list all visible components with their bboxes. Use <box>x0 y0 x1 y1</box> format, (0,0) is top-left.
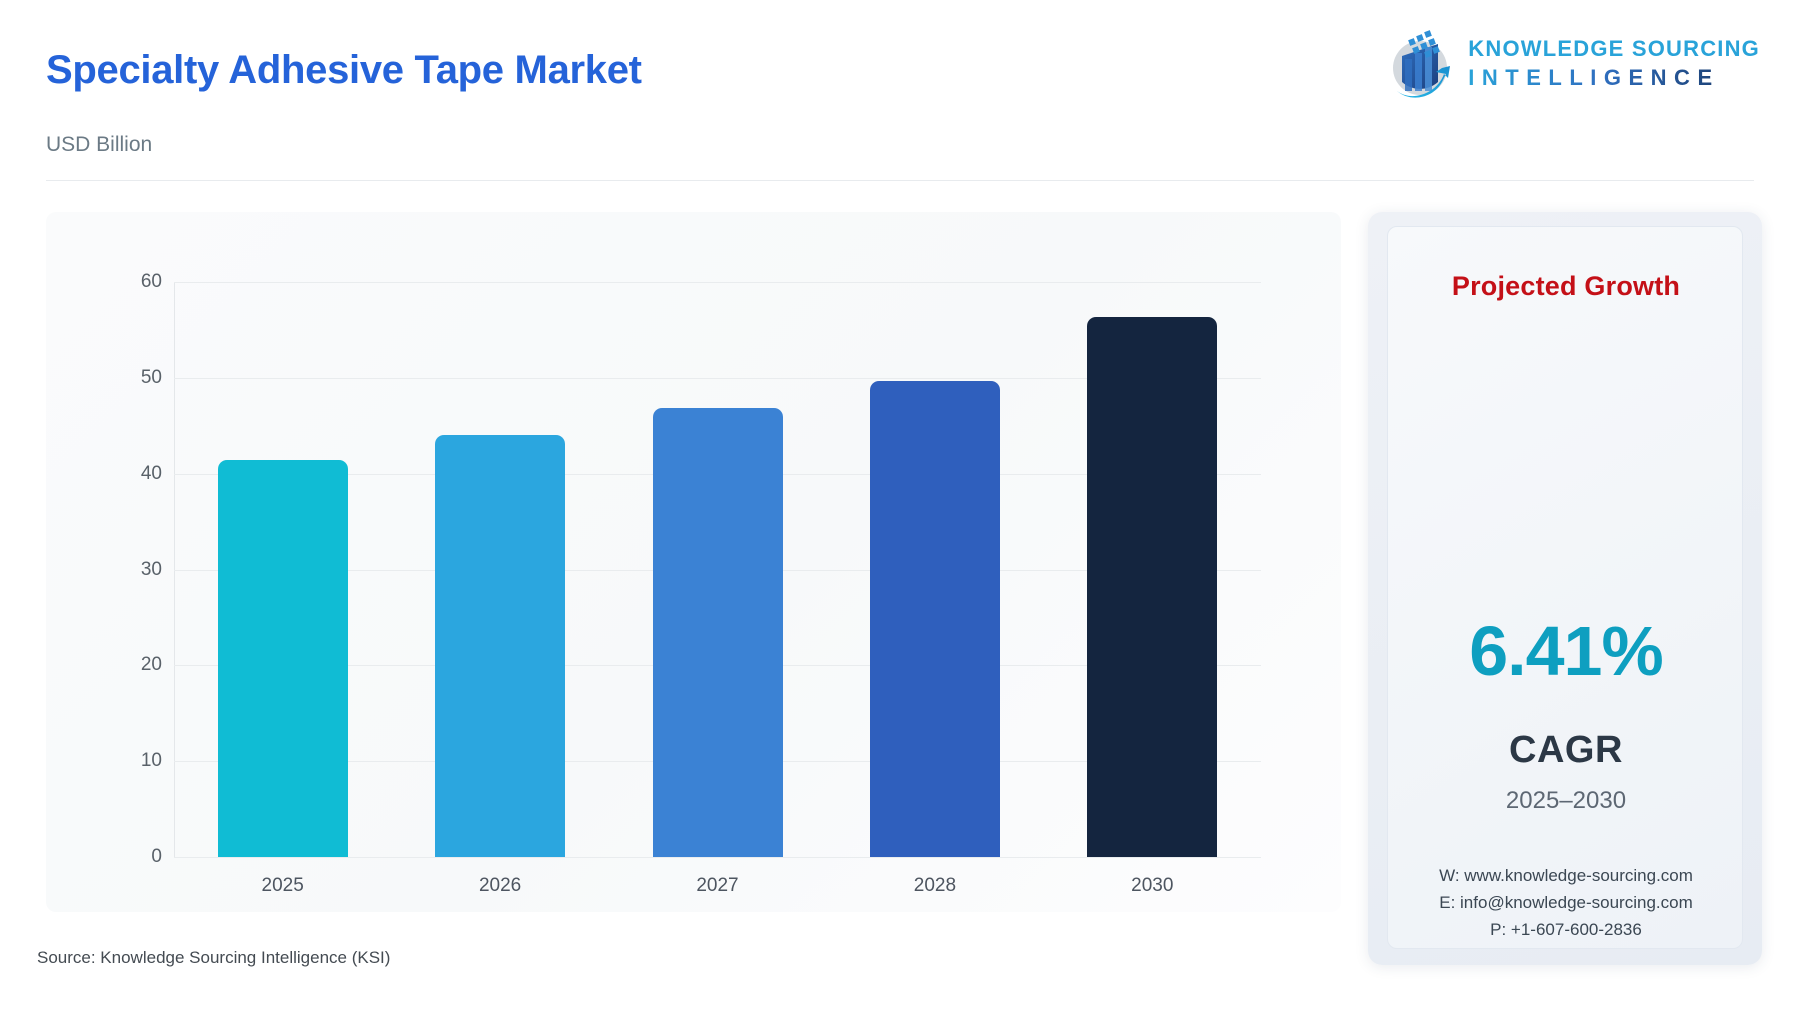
logo-wordmark: KNOWLEDGE SOURCING INTELLIGENCE <box>1468 36 1760 91</box>
contact-block: W: www.knowledge-sourcing.com E: info@kn… <box>1388 863 1744 944</box>
bar-2025[interactable] <box>218 460 348 857</box>
projected-growth-panel: Projected Growth 6.41% CAGR 2025–2030 W:… <box>1368 212 1762 965</box>
y-axis-tick-label: 10 <box>126 750 162 772</box>
y-axis-tick-label: 50 <box>126 367 162 389</box>
header: Specialty Adhesive Tape Market USD Billi… <box>0 0 1800 185</box>
cagr-label: CAGR <box>1388 729 1744 772</box>
y-axis-tick-label: 20 <box>126 654 162 676</box>
bar-2030[interactable] <box>1087 317 1217 858</box>
contact-website[interactable]: W: www.knowledge-sourcing.com <box>1388 863 1744 890</box>
y-axis-tick-label: 30 <box>126 559 162 581</box>
x-axis-tick-label: 2030 <box>1131 875 1173 897</box>
ksi-globe-bars-arrow-logo-icon <box>1380 26 1454 100</box>
chart-card: 010203040506020252026202720282030 <box>46 212 1341 912</box>
bar-chart-plot: 010203040506020252026202720282030 <box>126 282 1261 857</box>
market-chart-infographic: Specialty Adhesive Tape Market USD Billi… <box>0 0 1800 1012</box>
x-axis-tick-label: 2026 <box>479 875 521 897</box>
contact-email[interactable]: E: info@knowledge-sourcing.com <box>1388 890 1744 917</box>
y-axis-tick-label: 60 <box>126 271 162 293</box>
logo-line-2: INTELLIGENCE <box>1468 65 1760 91</box>
projected-growth-heading: Projected Growth <box>1388 271 1744 302</box>
y-axis-tick-label: 40 <box>126 463 162 485</box>
contact-phone: P: +1-607-600-2836 <box>1388 917 1744 944</box>
logo-line-1: KNOWLEDGE SOURCING <box>1468 36 1760 62</box>
page-title: Specialty Adhesive Tape Market <box>46 48 642 93</box>
source-note: Source: Knowledge Sourcing Intelligence … <box>37 948 390 968</box>
x-axis-tick-label: 2027 <box>696 875 738 897</box>
y-axis-tick-label: 0 <box>126 846 162 868</box>
gridline <box>174 857 1261 858</box>
header-divider <box>46 180 1754 181</box>
projected-growth-inner: Projected Growth 6.41% CAGR 2025–2030 W:… <box>1387 226 1743 949</box>
cagr-value: 6.41% <box>1388 611 1744 691</box>
x-axis-tick-label: 2025 <box>262 875 304 897</box>
x-axis-tick-label: 2028 <box>914 875 956 897</box>
cagr-period: 2025–2030 <box>1388 787 1744 815</box>
gridline <box>174 282 1261 283</box>
units-subtitle: USD Billion <box>46 133 152 157</box>
bar-2028[interactable] <box>870 381 1000 857</box>
bar-2026[interactable] <box>435 435 565 857</box>
bar-2027[interactable] <box>653 408 783 857</box>
brand-logo: KNOWLEDGE SOURCING INTELLIGENCE <box>1380 24 1760 102</box>
